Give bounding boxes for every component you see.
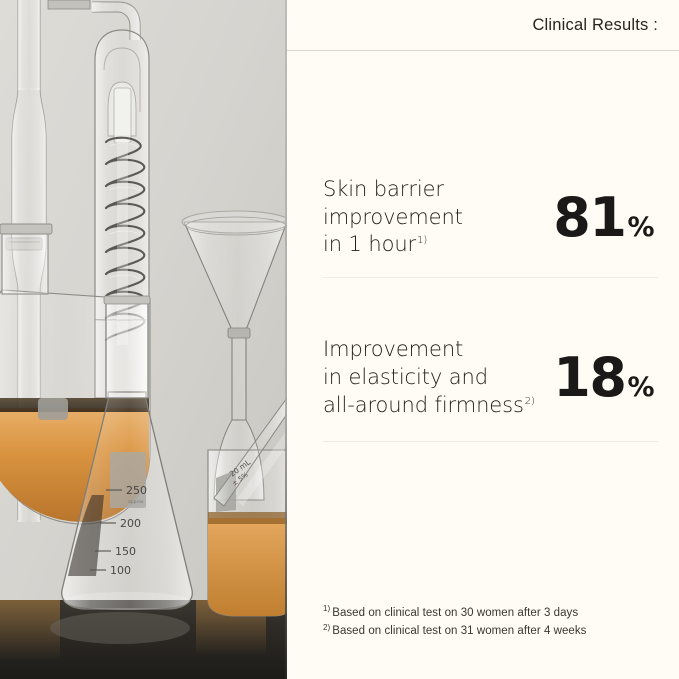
page-title: Clinical Results :	[532, 16, 658, 35]
result-label: Skin barrier improvement in 1 hour1)	[323, 176, 463, 259]
result-label-text: Skin barrier improvement in 1 hour	[323, 177, 463, 256]
result-number: 81	[553, 191, 625, 245]
footnote-text: Based on clinical test on 30 women after…	[332, 607, 578, 619]
result-footnote-marker: 2)	[525, 396, 535, 407]
flask-graduation-250: 250	[126, 484, 147, 497]
result-divider	[323, 441, 658, 442]
result-value: 18 %	[553, 351, 658, 405]
results-panel: Clinical Results : Skin barrier improvem…	[287, 0, 679, 679]
results-list-secondary: Improvement in elasticity and all-around…	[287, 278, 679, 441]
footnote-item: 2)Based on clinical test on 31 women aft…	[323, 622, 658, 641]
panel-header: Clinical Results :	[287, 0, 679, 51]
flask-graduation-150: 150	[115, 545, 136, 558]
footnote-item: 1)Based on clinical test on 30 women aft…	[323, 604, 658, 623]
result-item: Improvement in elasticity and all-around…	[323, 278, 658, 441]
result-number: 18	[553, 351, 625, 405]
flask-graduation-200: 200	[120, 517, 141, 530]
results-list: Skin barrier improvement in 1 hour1) 81 …	[287, 51, 679, 277]
footnote-marker: 1)	[323, 604, 330, 613]
result-percent-sign: %	[627, 372, 654, 403]
footnotes: 1)Based on clinical test on 30 women aft…	[323, 604, 658, 641]
result-footnote-marker: 1)	[417, 235, 427, 246]
result-label-text: Improvement in elasticity and all-around…	[323, 337, 524, 416]
result-percent-sign: %	[627, 212, 654, 243]
footnote-text: Based on clinical test on 31 women after…	[332, 625, 586, 637]
clinical-results-card: 250 200 150 100 approx	[0, 0, 679, 679]
result-value: 81 %	[553, 191, 658, 245]
svg-text:approx: approx	[128, 499, 144, 505]
flask-graduation-100: 100	[110, 564, 131, 577]
result-label: Improvement in elasticity and all-around…	[323, 336, 535, 419]
result-item: Skin barrier improvement in 1 hour1) 81 …	[323, 51, 658, 277]
footnote-marker: 2)	[323, 623, 330, 632]
lab-glassware-photo: 250 200 150 100 approx	[0, 0, 287, 679]
